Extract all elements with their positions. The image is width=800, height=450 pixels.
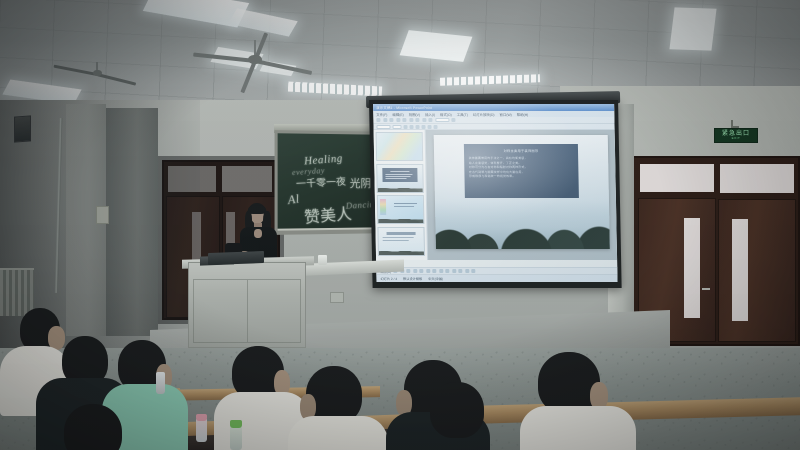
align-left-icon[interactable]	[421, 124, 425, 128]
water-bottle	[156, 372, 165, 394]
font-name-combo[interactable]	[376, 124, 390, 128]
blackboard-writing: 光阴	[350, 175, 371, 191]
wall-socket	[330, 292, 344, 303]
thumbnail-text-line	[387, 232, 416, 235]
toolbar-preview-icon[interactable]	[402, 118, 406, 122]
laptop[interactable]	[208, 251, 264, 265]
line-icon[interactable]	[407, 269, 411, 273]
powerpoint-window-title: 演示文稿1 - Microsoft PowerPoint	[376, 105, 432, 110]
toolbar-open-icon[interactable]	[383, 118, 387, 122]
door-leaf[interactable]	[718, 199, 796, 342]
green-cap-bottle-cap	[230, 420, 242, 428]
exit-sign-english-label: EXIT	[732, 137, 741, 140]
thumbnail-tree-silhouette	[379, 247, 424, 254]
thumbnail-text-line	[390, 171, 409, 172]
thumbnail-text-line	[394, 203, 417, 204]
slide-body-line: 形成秩序与和谐统一的视觉效果。	[469, 174, 574, 178]
toolbar-copy-icon[interactable]	[422, 118, 426, 122]
status-language: 中文(中国)	[428, 276, 443, 281]
thumbnail-text-line	[382, 237, 414, 238]
powerpoint-status-bar: 幻灯片 2 / 4 默认设计模板 中文(中国)	[376, 274, 617, 282]
thumbnail-background	[377, 133, 423, 160]
thumbnail-textbox	[383, 168, 417, 182]
pull-down-projection-screen: 演示文稿1 - Microsoft PowerPoint 文件(F) 编辑(E)…	[369, 100, 622, 288]
exit-sign-bracket	[731, 120, 739, 128]
menu-item-view[interactable]: 视图(V)	[409, 111, 420, 116]
powerpoint-title-bar: 演示文稿1 - Microsoft PowerPoint	[373, 104, 614, 111]
paper-cup	[318, 255, 327, 265]
shadow-icon[interactable]	[465, 269, 469, 273]
thumbnail-text-line	[394, 206, 414, 207]
student	[524, 352, 634, 450]
thumbnail-text-line	[386, 174, 413, 175]
menu-item-help[interactable]: 帮助(H)	[517, 111, 529, 116]
toolbar-cut-icon[interactable]	[415, 118, 419, 122]
menu-item-format[interactable]: 格式(O)	[440, 111, 452, 116]
menu-item-edit[interactable]: 编辑(E)	[392, 111, 403, 116]
student	[56, 404, 146, 450]
fill-color-icon[interactable]	[446, 269, 450, 273]
toolbar-print-icon[interactable]	[396, 118, 400, 122]
underline-icon[interactable]	[415, 124, 419, 128]
door-glass-panel	[732, 219, 748, 321]
powerpoint-standard-toolbar[interactable]	[373, 117, 614, 124]
emergency-exit-sign: 紧急出口 EXIT	[714, 128, 758, 143]
menu-item-tools[interactable]: 工具(T)	[457, 111, 468, 116]
slide-editing-area[interactable]: 对称主要用于装饰图形 装饰图案常用的手法之一，具有均衡美感， 给人庄重感觉，体现…	[426, 130, 618, 260]
thumbnail-text-line	[386, 176, 411, 177]
slide-thumbnail[interactable]	[376, 132, 424, 161]
menu-item-file[interactable]: 文件(F)	[376, 111, 387, 116]
three-d-icon[interactable]	[472, 269, 476, 273]
arrow-icon[interactable]	[413, 269, 417, 273]
slide-thumbnail[interactable]	[376, 163, 424, 192]
wall-speaker	[14, 115, 31, 142]
thumbnail-rainbow-strip	[380, 199, 387, 215]
powerpoint-drawing-toolbar[interactable]: 绘图(R)	[376, 267, 617, 274]
font-color-icon[interactable]	[459, 269, 463, 273]
slide-title: 对称主要用于装饰图形	[469, 148, 574, 153]
italic-icon[interactable]	[409, 124, 413, 128]
status-slide-number: 幻灯片 2 / 4	[380, 276, 397, 281]
status-design-template: 默认设计模板	[403, 276, 422, 281]
student-body	[288, 416, 388, 450]
menu-item-slideshow[interactable]: 幻灯片放映(D)	[473, 111, 495, 116]
door-glass-panel	[684, 218, 700, 318]
wall-plate	[96, 206, 109, 224]
projection-surface: 演示文稿1 - Microsoft PowerPoint 文件(F) 编辑(E)…	[373, 104, 617, 282]
student-head	[64, 404, 122, 450]
lecture-hall-photo: 紧急出口 EXIT Healing everyday 一千零一夜 光阴	[0, 0, 800, 450]
toolbar-zoom-combo[interactable]	[435, 118, 449, 122]
toolbar-save-icon[interactable]	[389, 118, 393, 122]
thumbnail-tree-silhouette	[378, 184, 423, 191]
toolbar-help-icon[interactable]	[451, 118, 455, 122]
line-color-icon[interactable]	[452, 269, 456, 273]
powerpoint-workspace: 对称主要用于装饰图形 装饰图案常用的手法之一，具有均衡美感， 给人庄重感觉，体现…	[374, 130, 618, 260]
menu-item-window[interactable]: 窗口(W)	[499, 111, 511, 116]
oval-icon[interactable]	[426, 269, 430, 273]
thumbnail-tree-silhouette	[378, 216, 423, 223]
slide-thumbnail[interactable]	[377, 226, 425, 255]
bold-icon[interactable]	[403, 124, 407, 128]
student-body	[520, 406, 636, 450]
student	[420, 382, 510, 450]
wordart-icon[interactable]	[439, 269, 443, 273]
door-transom-window	[640, 164, 714, 192]
student-head	[430, 382, 484, 438]
textbox-icon[interactable]	[433, 269, 437, 273]
font-size-combo[interactable]	[392, 124, 401, 128]
rectangle-icon[interactable]	[420, 269, 424, 273]
blackboard-writing: 一千零一夜	[296, 173, 347, 191]
slide-textbox[interactable]: 对称主要用于装饰图形 装饰图案常用的手法之一，具有均衡美感， 给人庄重感觉，体现…	[463, 144, 579, 198]
slide-background-photo	[435, 201, 610, 249]
toolbar-spell-icon[interactable]	[409, 118, 413, 122]
door-transom-window	[222, 166, 272, 192]
align-center-icon[interactable]	[427, 124, 431, 128]
thumbnail-text-line	[386, 178, 407, 179]
bullet-list-icon[interactable]	[433, 124, 437, 128]
water-bottle	[196, 418, 207, 442]
thumbnail-text-line	[382, 240, 408, 241]
pink-cap-bottle	[196, 414, 207, 421]
toolbar-new-icon[interactable]	[376, 118, 380, 122]
podium-cabinet	[188, 262, 306, 348]
blackboard-writing: Al	[287, 191, 301, 208]
slide-thumbnail[interactable]	[377, 195, 425, 224]
powerpoint-window: 演示文稿1 - Microsoft PowerPoint 文件(F) 编辑(E)…	[373, 104, 617, 282]
slide-thumbnail-pane[interactable]	[374, 130, 429, 260]
current-slide[interactable]: 对称主要用于装饰图形 装饰图案常用的手法之一，具有均衡美感， 给人庄重感觉，体现…	[434, 135, 610, 249]
door-transom-window	[720, 164, 794, 193]
door-handle[interactable]	[702, 288, 710, 290]
toolbar-paste-icon[interactable]	[428, 118, 432, 122]
menu-item-insert[interactable]: 插入(I)	[425, 111, 435, 116]
podium-cabinet-doors[interactable]	[193, 279, 301, 343]
classroom-blackboard: Healing everyday 一千零一夜 光阴 Al 赞美人 Dancing	[275, 130, 382, 235]
student	[300, 366, 386, 450]
presenter-hand	[254, 229, 262, 238]
